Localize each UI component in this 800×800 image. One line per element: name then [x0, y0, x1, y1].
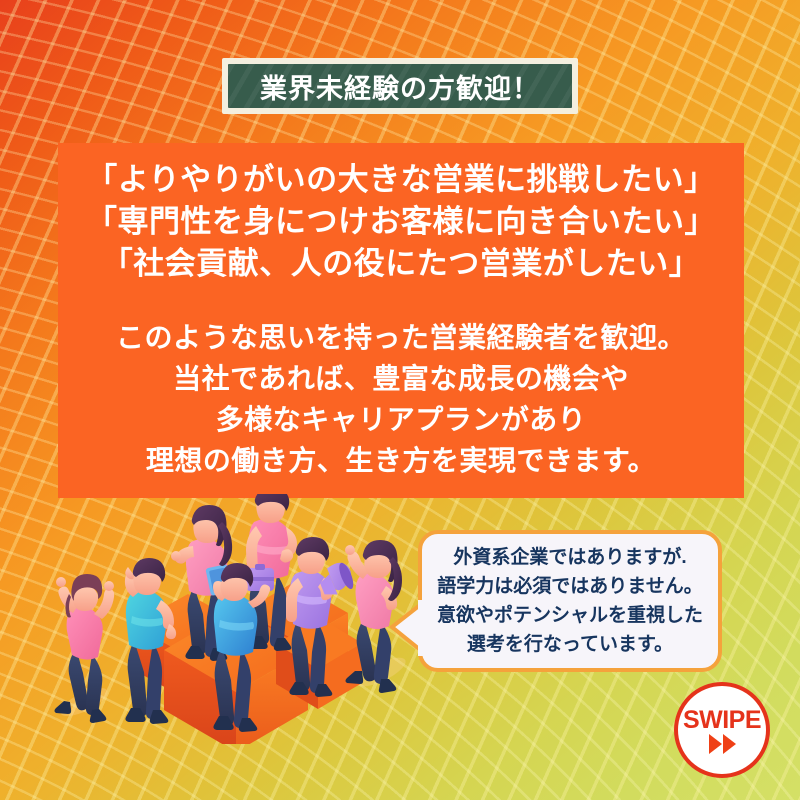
isometric-team-illustration [36, 494, 436, 744]
quote-line-2: 「専門性を身につけお客様に向き合いたい」 [58, 201, 744, 243]
paragraph-line-4: 理想の働き方、生き方を実現できます。 [58, 440, 744, 481]
header-banner-inner: 業界未経験の方歓迎！ [228, 64, 572, 108]
swipe-button[interactable]: SWIPE [674, 682, 770, 778]
bubble-line-4: 選考を行なっています。 [467, 630, 673, 659]
speech-bubble: 外資系企業ではありますが. 語学力は必須ではありません。 意欲やポテンシャルを重… [418, 530, 722, 672]
swipe-label: SWIPE [683, 707, 761, 733]
quote-line-1: 「よりやりがいの大きな営業に挑戦したい」 [58, 159, 744, 201]
quote-list: 「よりやりがいの大きな営業に挑戦したい」 「専門性を身につけお客様に向き合いたい… [58, 159, 744, 285]
speech-bubble-tail [390, 600, 424, 656]
bubble-line-3: 意欲やポテンシャルを重視した [437, 601, 703, 630]
fast-forward-icon [709, 734, 736, 754]
paragraph-line-1: このような思いを持った営業経験者を歓迎。 [58, 317, 744, 358]
bubble-line-2: 語学力は必須ではありません。 [437, 572, 702, 601]
poster-canvas: 業界未経験の方歓迎！ 「よりやりがいの大きな営業に挑戦したい」 「専門性を身につ… [0, 0, 800, 800]
header-banner: 業界未経験の方歓迎！ [222, 58, 578, 114]
bubble-line-1: 外資系企業ではありますが. [453, 543, 686, 572]
banner-title: 業界未経験の方歓迎！ [260, 67, 540, 106]
paragraph-block: このような思いを持った営業経験者を歓迎。 当社であれば、豊富な成長の機会や 多様… [58, 317, 744, 481]
person-cheering-left [55, 574, 115, 723]
content-panel: 「よりやりがいの大きな営業に挑戦したい」 「専門性を身につけお客様に向き合いたい… [58, 143, 744, 498]
quote-line-3: 「社会貢献、人の役にたつ営業がしたい」 [58, 243, 744, 285]
paragraph-line-3: 多様なキャリアプランがあり [58, 399, 744, 440]
paragraph-line-2: 当社であれば、豊富な成長の機会や [58, 358, 744, 399]
